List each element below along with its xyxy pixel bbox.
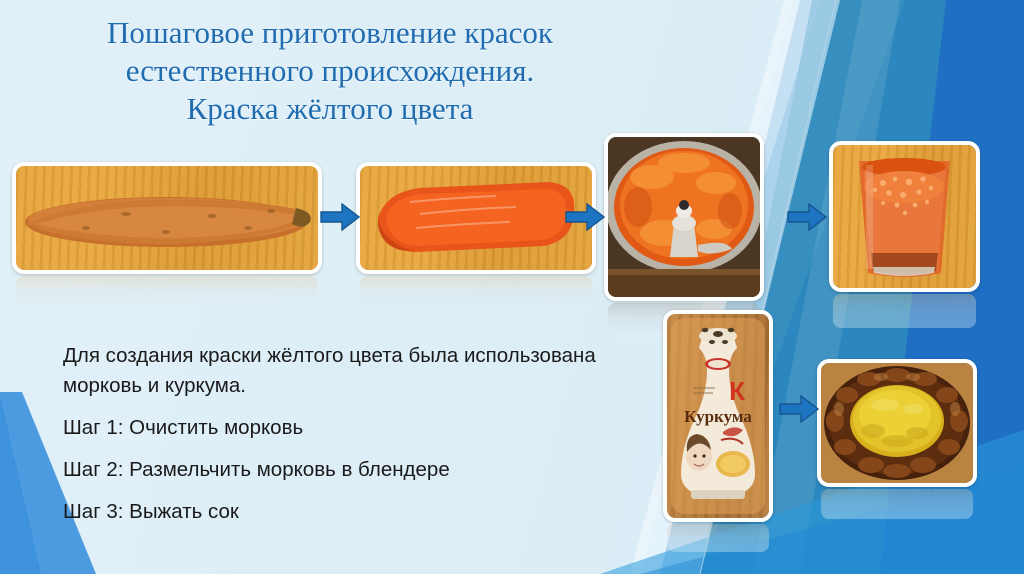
peeled-carrot-photo: [356, 162, 596, 274]
body-lead-text: Для создания краски жёлтого цвета была и…: [63, 341, 623, 401]
arrow-peeled-to-blender: [565, 203, 605, 231]
unpeeled-carrot-photo: [12, 162, 322, 274]
turmeric-package-photo: К Куркума: [663, 310, 773, 522]
arrow-carrot-to-peeled: [320, 203, 360, 231]
step-3-text: Шаг 3: Выжать сок: [63, 497, 623, 527]
turmeric-brand-mark: К: [729, 376, 745, 406]
slide-canvas: Пошаговое приготовление красок естествен…: [0, 0, 1024, 574]
carrot-juice-glass-photo: [829, 141, 980, 292]
blender-carrot-pulp-photo: [604, 133, 764, 301]
turmeric-label-text: Куркума: [684, 407, 752, 426]
slide-title: Пошаговое приготовление красок естествен…: [30, 14, 630, 128]
arrow-blender-to-juice: [787, 203, 827, 231]
step-1-text: Шаг 1: Очистить морковь: [63, 413, 623, 443]
body-text-block: Для создания краски жёлтого цвета была и…: [63, 341, 623, 539]
turmeric-powder-bowl-photo: [817, 359, 977, 487]
step-2-text: Шаг 2: Размельчить морковь в блендере: [63, 455, 623, 485]
arrow-turmeric-to-powder: [779, 395, 819, 423]
